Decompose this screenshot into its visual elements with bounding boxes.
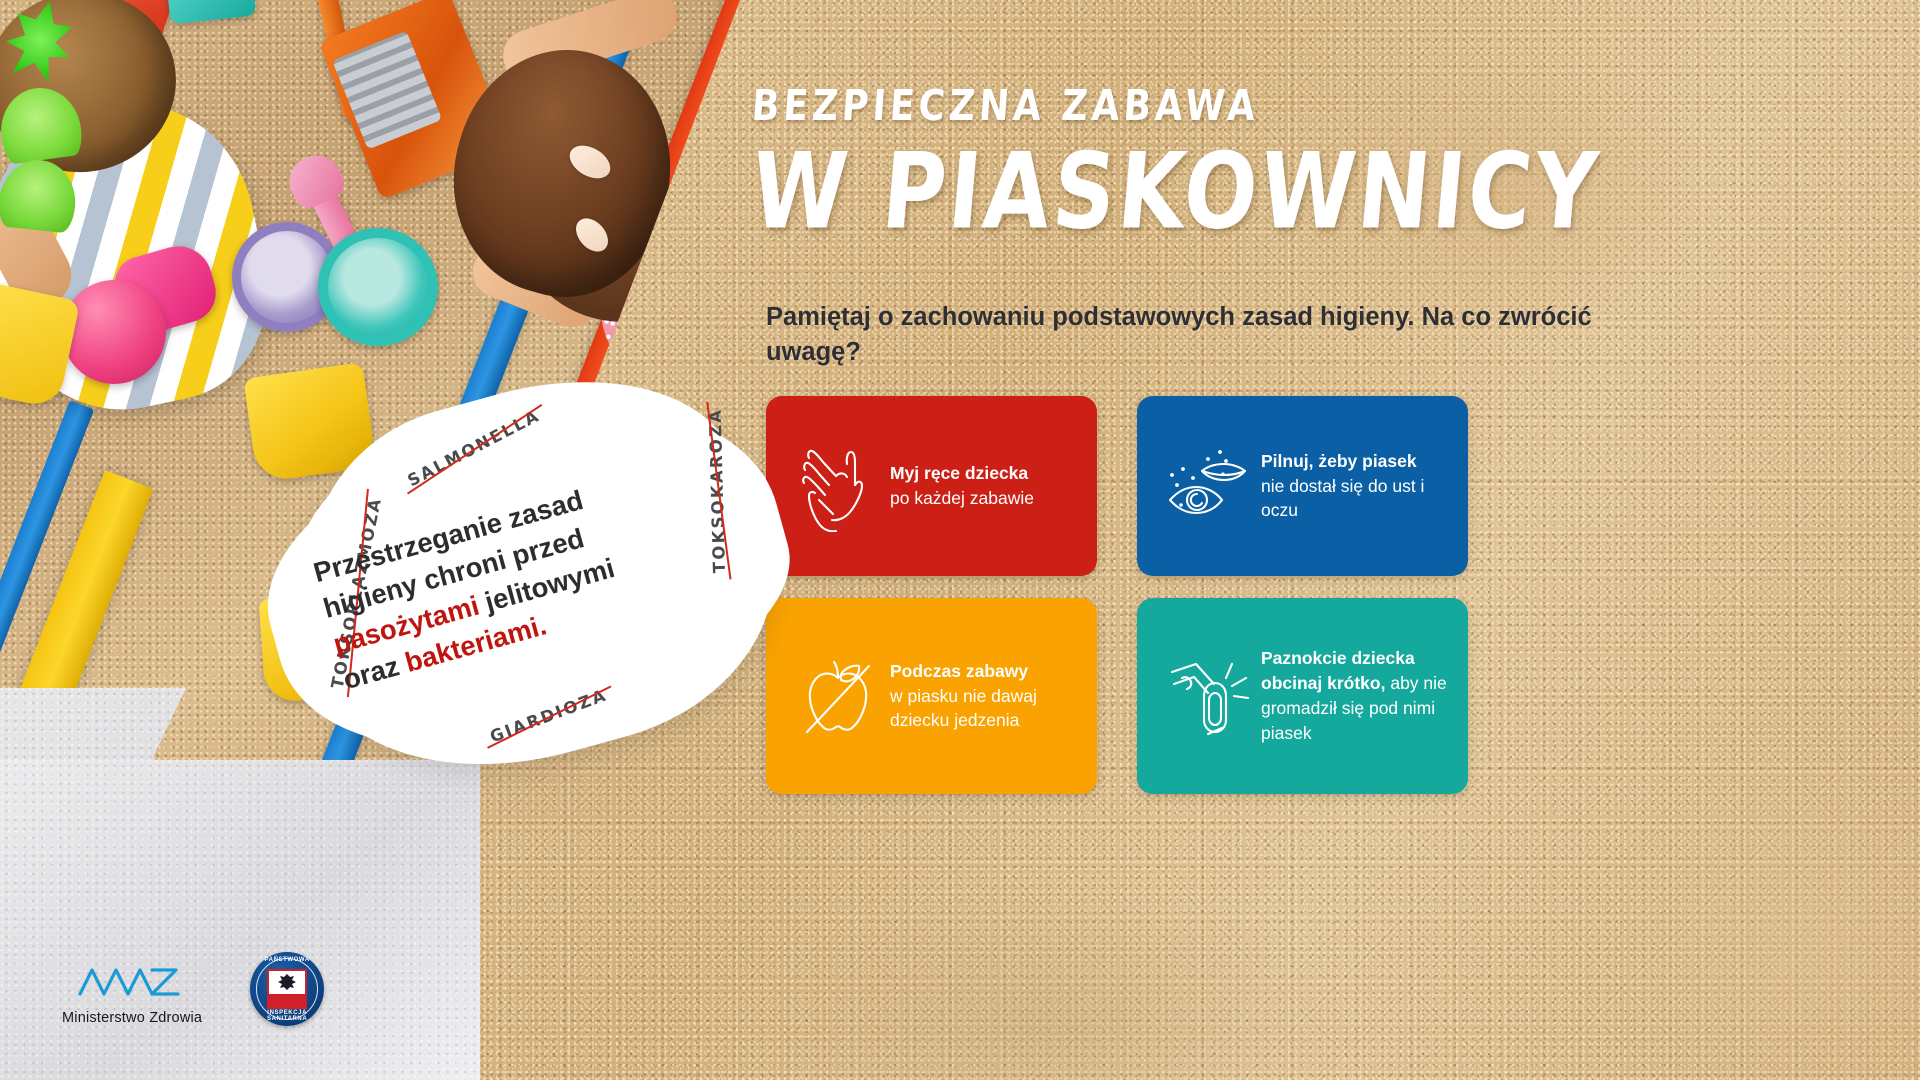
page-title: BEZPIECZNA ZABAWA W PIASKOWNICY	[752, 86, 1872, 235]
infographic-poster: BEZPIECZNA ZABAWA W PIASKOWNICY Pamiętaj…	[0, 0, 1920, 1080]
eye-mouth-sand-icon	[1157, 445, 1261, 527]
toy-teal-bucket	[318, 228, 438, 346]
card-short-nails-text: Paznokcie dziecka obcinaj krótko, aby ni…	[1261, 646, 1448, 745]
card-sand-bold: Pilnuj, żeby piasek	[1261, 451, 1417, 471]
card-wash-hands-text: Myj ręce dziecka po każdej zabawie	[890, 461, 1034, 511]
card-no-food-text: Podczas zabawy w piasku nie dawaj dzieck…	[890, 659, 1077, 734]
card-wash-hands[interactable]: Myj ręce dziecka po każdej zabawie	[766, 396, 1097, 576]
seal-text-bottom: INSPEKCJA SANITARNA	[250, 1010, 324, 1022]
card-sand-mouth-eyes[interactable]: Pilnuj, żeby piasek nie dostał się do us…	[1137, 396, 1468, 576]
title-line-2: W PIASKOWNICY	[747, 140, 1876, 245]
card-no-food-bold: Podczas zabawy	[890, 661, 1028, 681]
ministry-of-health-logo[interactable]: Ministerstwo Zdrowia	[62, 960, 202, 1026]
nail-clipping-icon	[1157, 650, 1261, 742]
card-wash-hands-rest: po każdej zabawie	[890, 488, 1034, 508]
ministry-label: Ministerstwo Zdrowia	[62, 1010, 202, 1026]
concrete-ground-lower	[0, 760, 480, 1080]
sanitary-inspection-seal[interactable]: PAŃSTWOWA INSPEKCJA SANITARNA	[250, 952, 324, 1026]
card-no-food-rest: w piasku nie dawaj dziecku jedzenia	[890, 686, 1037, 731]
toy-pink-ball	[62, 280, 166, 384]
card-sand-mouth-eyes-text: Pilnuj, żeby piasek nie dostał się do us…	[1261, 449, 1448, 524]
card-short-nails[interactable]: Paznokcie dziecka obcinaj krótko, aby ni…	[1137, 598, 1468, 794]
card-sand-rest: nie dostał się do ust i oczu	[1261, 476, 1424, 521]
subtitle: Pamiętaj o zachowaniu podstawowych zasad…	[766, 300, 1606, 369]
title-line-1: BEZPIECZNA ZABAWA	[750, 82, 1873, 130]
eagle-glyph	[272, 972, 302, 994]
polish-eagle-emblem	[267, 969, 307, 1009]
card-no-food[interactable]: Podczas zabawy w piasku nie dawaj dzieck…	[766, 598, 1097, 794]
tips-card-grid: Myj ręce dziecka po każdej zabawie	[766, 396, 1878, 778]
card-wash-hands-bold: Myj ręce dziecka	[890, 463, 1028, 483]
callout-text: Przestrzeganie zasad higieny chroni prze…	[309, 448, 738, 698]
struck-term-giardioza: GIARDIOZA	[487, 685, 609, 746]
mz-zigzag-logo	[76, 960, 188, 1004]
seal-text-top: PAŃSTWOWA	[250, 957, 324, 963]
washing-hands-icon	[786, 440, 890, 532]
logo-bar: Ministerstwo Zdrowia PAŃSTWOWA INSPEKCJA…	[62, 952, 324, 1026]
